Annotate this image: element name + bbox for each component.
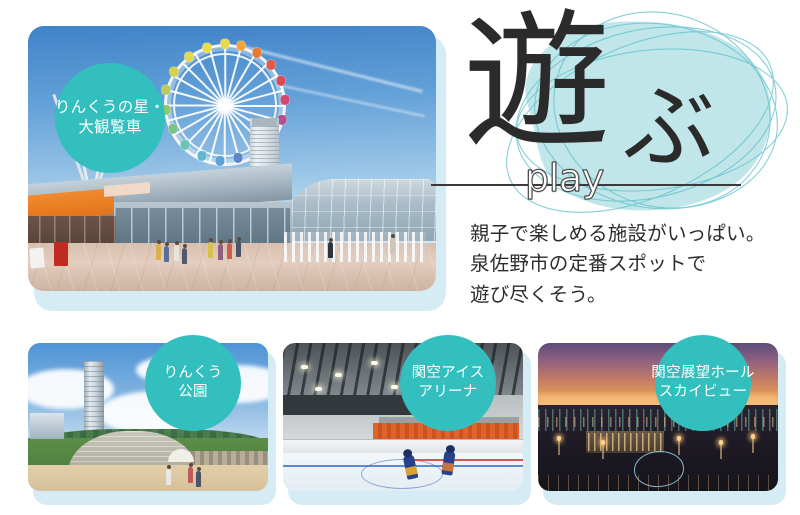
- outdoor-chairs: [284, 232, 426, 262]
- body-line-1: 親子で楽しめる施設がいっぱい。: [470, 219, 800, 249]
- faceoff-circle: [361, 459, 443, 489]
- hero-label-line2: 大観覧車: [78, 118, 141, 138]
- thumb-label-badge-ice-arena[interactable]: 関空アイス アリーナ: [400, 335, 496, 431]
- sand-beach: [28, 465, 268, 491]
- dark-window-band: [283, 395, 421, 415]
- thumb-card-rinku-park[interactable]: りんくう 公園: [28, 343, 281, 505]
- thumb-label-badge-sky-view[interactable]: 関空展望ホール スカイビュー: [655, 335, 751, 431]
- red-sandwich-board: [54, 242, 68, 266]
- title-kanji: 遊: [463, 8, 611, 156]
- title-block: 遊 ぶ play: [463, 16, 793, 206]
- body-copy: 親子で楽しめる施設がいっぱい。 泉佐野市の定番スポットで 遊び尽くそう。: [470, 219, 800, 310]
- terminal-building: [586, 431, 664, 453]
- thumb-label-line1: りんくう: [164, 364, 223, 383]
- thumb-label-line1: 関空アイス: [412, 364, 485, 383]
- promo-banner: りんくうの星・ 大観覧車 遊 ぶ play 親子で楽しめる施設がいっぱい。 泉佐…: [0, 0, 800, 515]
- hero-label-line1: りんくうの星・: [55, 98, 165, 118]
- blue-line: [283, 465, 523, 467]
- perimeter-fence: [538, 475, 778, 491]
- title-kana: ぶ: [623, 82, 715, 174]
- thumb-label-line1: 関空展望ホール: [651, 364, 755, 383]
- hero-card[interactable]: りんくうの星・ 大観覧車: [28, 26, 446, 311]
- body-line-2: 泉佐野市の定番スポットで: [470, 249, 800, 279]
- thumb-label-line2: スカイビュー: [659, 383, 748, 402]
- thumb-card-ice-arena[interactable]: 関空アイス アリーナ: [283, 343, 536, 505]
- body-line-3: 遊び尽くそう。: [470, 280, 800, 310]
- red-line: [411, 459, 523, 461]
- title-romaji: play: [525, 156, 604, 200]
- white-sign: [29, 248, 44, 269]
- runway-lights-amber: [538, 417, 778, 427]
- pavilion: [30, 413, 64, 439]
- thumb-label-badge-rinku-park[interactable]: りんくう 公園: [145, 335, 241, 431]
- thumb-label-line2: アリーナ: [418, 383, 477, 402]
- thumb-card-sky-view[interactable]: 関空展望ホール スカイビュー: [538, 343, 791, 505]
- hero-label-badge[interactable]: りんくうの星・ 大観覧車: [55, 63, 165, 173]
- thumb-label-line2: 公園: [178, 383, 208, 402]
